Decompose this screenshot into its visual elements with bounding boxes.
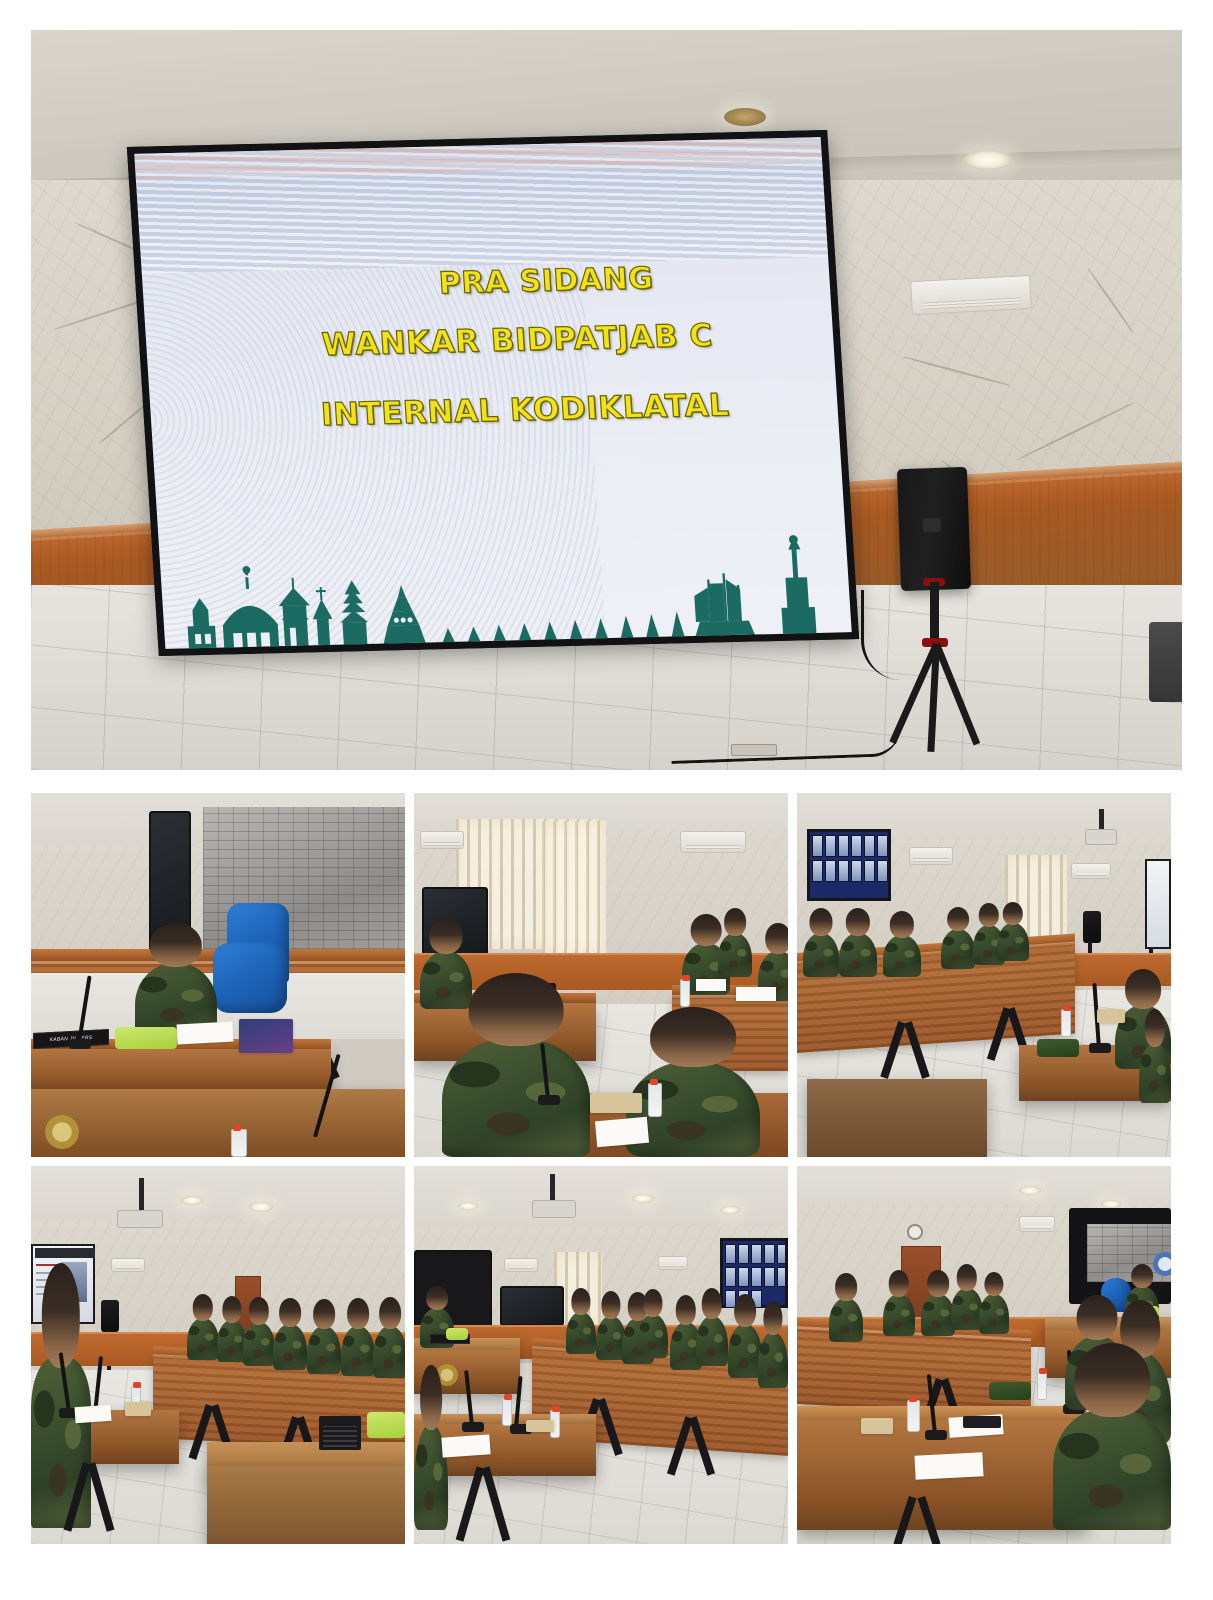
seated-officer bbox=[883, 935, 921, 977]
air-conditioner-icon bbox=[658, 1256, 688, 1270]
notebook bbox=[914, 1452, 983, 1480]
main-meeting-room-photo: PRA SIDANG WANKAR BIDPATJAB C INTERNAL K… bbox=[31, 30, 1182, 770]
seated-officer bbox=[341, 1326, 375, 1376]
green-pouch bbox=[989, 1382, 1031, 1400]
pa-speaker-icon bbox=[897, 467, 971, 591]
seated-officer bbox=[307, 1326, 341, 1374]
water-bottle bbox=[680, 979, 690, 1007]
green-pouch bbox=[1037, 1039, 1079, 1057]
tissue-box bbox=[526, 1420, 554, 1432]
ceiling-downlight-icon bbox=[632, 1194, 654, 1203]
seated-officer bbox=[696, 1316, 728, 1366]
projection-screen bbox=[1145, 859, 1171, 949]
photo-collage-page: PRA SIDANG WANKAR BIDPATJAB C INTERNAL K… bbox=[0, 0, 1213, 1600]
ceiling-projector-icon bbox=[1085, 829, 1117, 845]
photo-board bbox=[720, 1238, 788, 1308]
tripod-column bbox=[930, 582, 939, 644]
seated-officer bbox=[273, 1324, 307, 1370]
unit-emblem bbox=[1153, 1252, 1171, 1276]
projector-arm bbox=[1099, 809, 1104, 831]
microphone-base bbox=[69, 1039, 91, 1049]
g4-scene bbox=[31, 1166, 405, 1544]
pa-speaker-icon bbox=[1083, 911, 1101, 943]
wall-tv bbox=[500, 1286, 564, 1326]
water-bottle bbox=[1037, 1372, 1047, 1400]
g5-scene bbox=[414, 1166, 788, 1544]
water-bottle bbox=[502, 1398, 512, 1426]
phone bbox=[963, 1416, 1001, 1428]
tissue-box bbox=[861, 1418, 893, 1434]
ceiling-projector-icon bbox=[117, 1210, 163, 1228]
foreground-desk bbox=[807, 1079, 987, 1157]
microphone-base bbox=[538, 1095, 560, 1105]
air-conditioner-icon bbox=[111, 1258, 145, 1272]
seated-officer bbox=[883, 1294, 915, 1336]
seated-officer bbox=[638, 1314, 668, 1358]
water-bottle bbox=[907, 1400, 920, 1432]
seated-officer bbox=[718, 933, 752, 977]
green-folder bbox=[446, 1328, 468, 1340]
air-conditioner-icon bbox=[420, 831, 464, 849]
microphone-base bbox=[1089, 1043, 1111, 1053]
seated-officer bbox=[839, 933, 877, 977]
hero-scene: PRA SIDANG WANKAR BIDPATJAB C INTERNAL K… bbox=[31, 30, 1182, 770]
desk-calculator bbox=[319, 1416, 361, 1450]
air-conditioner-icon bbox=[909, 847, 953, 865]
blue-executive-chair-seat bbox=[213, 943, 287, 1013]
window-curtains bbox=[542, 821, 606, 959]
projector-arm bbox=[550, 1174, 555, 1202]
seated-officer bbox=[941, 929, 975, 969]
tissue-box bbox=[590, 1093, 642, 1113]
seated-officer bbox=[829, 1298, 863, 1342]
foreground-officer bbox=[31, 1358, 91, 1528]
slide-wave-band bbox=[134, 137, 828, 274]
pa-speaker-icon bbox=[101, 1300, 119, 1332]
ceiling-downlight-icon bbox=[1019, 1186, 1041, 1195]
front-desk-panel bbox=[31, 1089, 405, 1157]
chair bbox=[1149, 622, 1182, 702]
seated-officer bbox=[566, 1312, 596, 1354]
ceiling-downlight-icon bbox=[720, 1206, 740, 1214]
seated-officer bbox=[728, 1324, 762, 1378]
seated-officer bbox=[921, 1294, 955, 1336]
ceiling-downlight-icon bbox=[249, 1202, 273, 1212]
ceiling-downlight-icon bbox=[724, 108, 766, 126]
projector-arm bbox=[139, 1178, 144, 1212]
seated-officer bbox=[758, 1332, 788, 1388]
air-conditioner-icon bbox=[504, 1258, 538, 1272]
seated-officer bbox=[997, 923, 1029, 961]
microphone-base bbox=[462, 1422, 484, 1432]
water-bottle bbox=[231, 1129, 247, 1157]
papers bbox=[74, 1405, 111, 1423]
water-bottle bbox=[648, 1083, 662, 1117]
projection-screen: PRA SIDANG WANKAR BIDPATJAB C INTERNAL K… bbox=[127, 130, 859, 656]
wall-clock-icon bbox=[907, 1224, 923, 1240]
g2-scene bbox=[414, 793, 788, 1157]
air-conditioner-icon bbox=[680, 831, 746, 853]
microphone-base bbox=[925, 1430, 947, 1440]
ceiling-downlight-icon bbox=[458, 1202, 478, 1210]
papers bbox=[177, 1022, 234, 1045]
foreground-officer bbox=[1053, 1410, 1171, 1530]
row-of-officers-photo bbox=[797, 793, 1171, 1157]
desk-emblem bbox=[45, 1115, 79, 1149]
photo-board bbox=[807, 829, 891, 901]
foreground-desk-front bbox=[207, 1466, 405, 1544]
power-strip-icon bbox=[731, 744, 777, 756]
green-folder bbox=[367, 1412, 405, 1438]
seated-officer bbox=[979, 1294, 1009, 1334]
table-tent-card bbox=[239, 1019, 293, 1053]
g6-scene bbox=[797, 1166, 1171, 1544]
tissue-box bbox=[1097, 1009, 1125, 1023]
papers bbox=[441, 1434, 490, 1457]
air-conditioner-icon bbox=[910, 275, 1032, 315]
papers bbox=[736, 987, 776, 1001]
video-conference-room-photo bbox=[31, 1166, 405, 1544]
water-bottle bbox=[1061, 1009, 1071, 1037]
seated-officer bbox=[373, 1326, 405, 1378]
tissue-box bbox=[125, 1402, 151, 1416]
room-with-curtains-photo bbox=[414, 793, 788, 1157]
foreground-officer bbox=[1139, 1043, 1171, 1103]
g3-scene bbox=[797, 793, 1171, 1157]
ceiling-downlight-icon bbox=[1101, 1200, 1121, 1208]
air-conditioner-icon bbox=[1019, 1216, 1055, 1232]
papers bbox=[595, 1117, 649, 1147]
papers bbox=[696, 979, 726, 991]
seated-officer bbox=[243, 1322, 275, 1366]
green-folder bbox=[115, 1027, 177, 1049]
foreground-officer bbox=[442, 1039, 590, 1157]
air-conditioner-icon bbox=[1071, 863, 1111, 879]
wide-room-view-photo bbox=[414, 1166, 788, 1544]
ceiling-downlight-icon bbox=[964, 150, 1012, 170]
g1-scene: KABAN JII PERS bbox=[31, 793, 405, 1157]
ceiling-projector-icon bbox=[532, 1200, 576, 1218]
slide-skyline-silhouette bbox=[158, 514, 852, 649]
foreground-officers-photo bbox=[797, 1166, 1171, 1544]
seated-officer bbox=[187, 1318, 219, 1360]
ceiling-downlight-icon bbox=[181, 1196, 203, 1205]
presentation-slide: PRA SIDANG WANKAR BIDPATJAB C INTERNAL K… bbox=[134, 137, 851, 649]
seated-officer bbox=[420, 951, 472, 1009]
officer-at-head-table-photo: KABAN JII PERS bbox=[31, 793, 405, 1157]
seated-officer bbox=[803, 933, 839, 977]
